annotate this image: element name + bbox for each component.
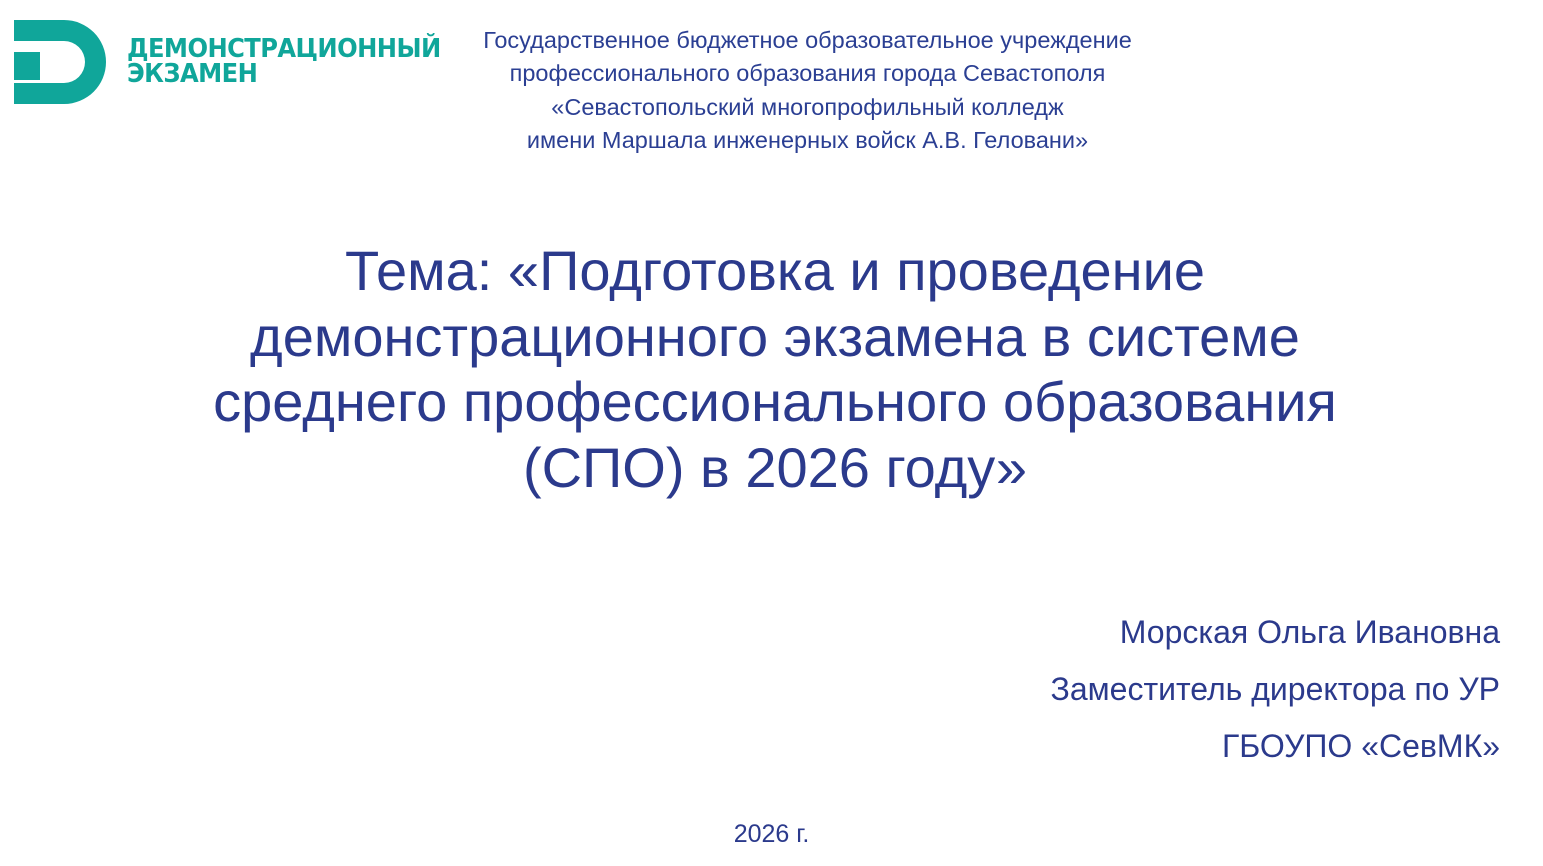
page-title: Тема: «Подготовка и проведение демонстра…	[80, 238, 1470, 500]
brand-wordmark: ДЕМОНСТРАЦИОННЫЙ ЭКЗАМЕН	[127, 37, 427, 87]
brand-logo: ДЕМОНСТРАЦИОННЫЙ ЭКЗАМЕН	[0, 0, 430, 125]
author-name: Морская Ольга Ивановна	[740, 604, 1500, 661]
title-line-2: демонстрационного экзамена в системе	[80, 304, 1470, 370]
title-line-4: (СПО) в 2026 году»	[80, 435, 1470, 501]
institution-line-2: профессионального образования города Сев…	[430, 57, 1185, 90]
title-line-1: Тема: «Подготовка и проведение	[80, 238, 1470, 304]
author-block: Морская Ольга Ивановна Заместитель дирек…	[740, 604, 1500, 775]
author-position: Заместитель директора по УР	[740, 661, 1500, 718]
institution-line-3: «Севастопольский многопрофильный колледж	[430, 91, 1185, 124]
institution-line-4: имени Маршала инженерных войск А.В. Гело…	[430, 124, 1185, 157]
title-slide: ДЕМОНСТРАЦИОННЫЙ ЭКЗАМЕН Государственное…	[0, 0, 1543, 866]
footer-year: 2026 г.	[0, 820, 1543, 849]
author-organization: ГБОУПО «СевМК»	[740, 718, 1500, 775]
demoexam-d-mark-icon	[14, 20, 106, 104]
institution-header: Государственное бюджетное образовательно…	[430, 24, 1185, 157]
title-line-3: среднего профессионального образования	[80, 369, 1470, 435]
institution-line-1: Государственное бюджетное образовательно…	[430, 24, 1185, 57]
brand-wordmark-line-2: ЭКЗАМЕН	[127, 62, 406, 87]
